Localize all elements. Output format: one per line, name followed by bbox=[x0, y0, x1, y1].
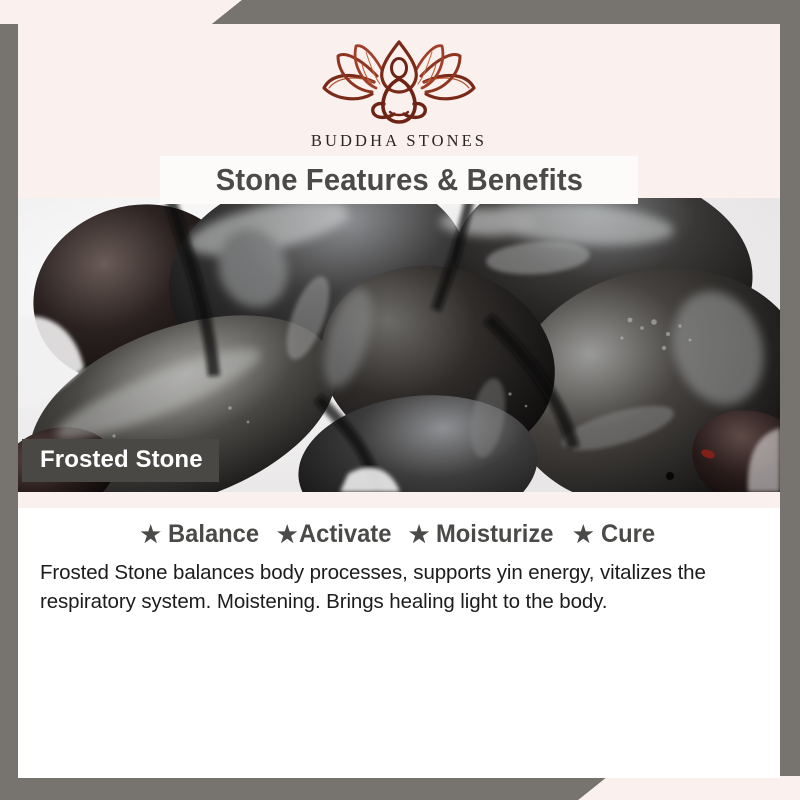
star-icon: ★ bbox=[277, 523, 298, 546]
infographic-page: BUDDHA STONES Stone Features & Benefits bbox=[0, 0, 800, 800]
benefit-item: ★ Cure bbox=[573, 520, 658, 549]
frame-diagonal-top-left bbox=[212, 0, 242, 24]
benefit-item: ★ Activate bbox=[277, 520, 396, 549]
brand-name: BUDDHA STONES bbox=[311, 131, 487, 151]
header: BUDDHA STONES Stone Features & Benefits bbox=[18, 24, 780, 198]
frame-corner-bottom-right bbox=[594, 776, 800, 800]
title-banner: Stone Features & Benefits bbox=[160, 156, 638, 204]
benefit-label: Balance bbox=[168, 520, 259, 549]
benefit-label: Moisturize bbox=[436, 520, 553, 549]
frame-diagonal-bottom-right bbox=[578, 776, 608, 800]
photo-label-banner: Frosted Stone bbox=[22, 439, 219, 482]
body-area: ★ Balance ★ Activate ★ Moisturize ★ Cure… bbox=[18, 508, 780, 616]
content-card: BUDDHA STONES Stone Features & Benefits bbox=[18, 24, 780, 778]
divider-cream-band bbox=[18, 492, 780, 508]
benefit-label: Cure bbox=[601, 520, 655, 549]
star-icon: ★ bbox=[573, 523, 594, 546]
star-icon: ★ bbox=[409, 523, 430, 546]
description-text: Frosted Stone balances body processes, s… bbox=[32, 558, 766, 616]
lotus-meditation-figure-icon bbox=[304, 38, 494, 130]
benefit-label: Activate bbox=[299, 520, 391, 549]
page-title: Stone Features & Benefits bbox=[215, 162, 582, 198]
star-icon: ★ bbox=[140, 523, 161, 546]
frame-corner-top-left bbox=[0, 0, 218, 24]
benefit-item: ★ Balance bbox=[140, 520, 264, 549]
frosted-stone-photo: Frosted Stone bbox=[18, 198, 780, 492]
photo-label-text: Frosted Stone bbox=[40, 446, 203, 473]
benefit-item: ★ Moisturize bbox=[409, 520, 560, 549]
benefits-row: ★ Balance ★ Activate ★ Moisturize ★ Cure bbox=[32, 520, 766, 549]
